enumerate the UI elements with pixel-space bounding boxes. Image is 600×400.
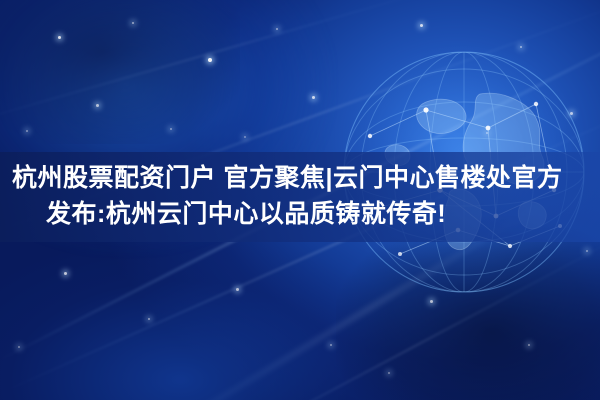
particle xyxy=(420,24,423,27)
title-overlay: 杭州股票配资门户 官方聚焦|云门中心售楼处官方 发布:杭州云门中心以品质铸就传奇… xyxy=(0,152,600,242)
particle xyxy=(430,300,433,303)
image-canvas: 杭州股票配资门户 官方聚焦|云门中心售楼处官方 发布:杭州云门中心以品质铸就传奇… xyxy=(0,0,600,400)
particle xyxy=(570,112,573,115)
particle xyxy=(96,104,99,107)
particle xyxy=(208,58,212,62)
particle xyxy=(276,28,278,30)
particle xyxy=(64,272,67,275)
particle xyxy=(148,318,150,320)
particle xyxy=(586,250,588,252)
particle xyxy=(244,136,246,138)
title-line-1: 杭州股票配资门户 官方聚焦|云门中心售楼处官方 xyxy=(6,160,594,196)
particle xyxy=(236,288,239,291)
title-line-2: 发布:杭州云门中心以品质铸就传奇! xyxy=(6,196,594,232)
particle xyxy=(486,132,488,134)
particle xyxy=(18,346,20,348)
particle xyxy=(26,130,28,132)
particle xyxy=(520,46,522,48)
particle xyxy=(388,372,390,374)
particle xyxy=(170,128,172,130)
particle xyxy=(58,36,61,39)
particle xyxy=(330,344,332,346)
particle xyxy=(528,344,530,346)
particle xyxy=(312,96,315,99)
particle xyxy=(132,22,134,24)
background-shadow-top-left xyxy=(0,0,240,144)
